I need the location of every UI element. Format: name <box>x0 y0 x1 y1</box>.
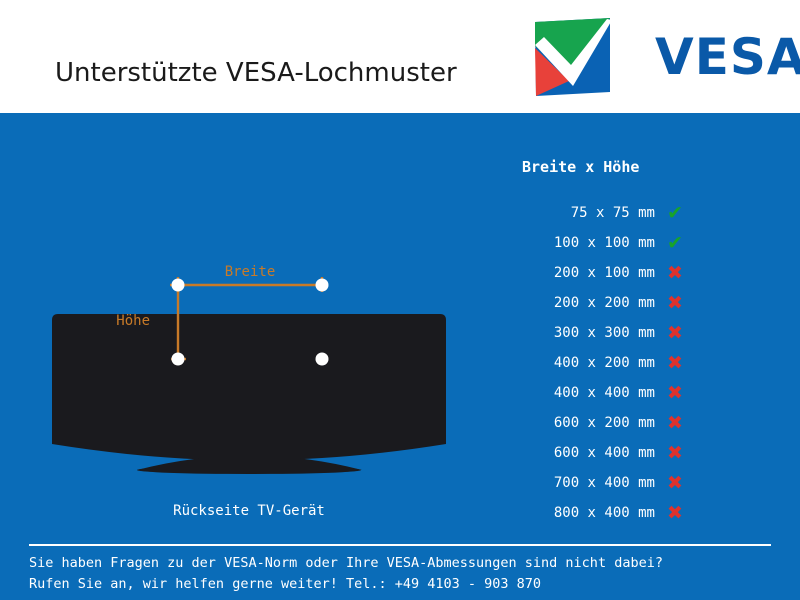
table-row: 200 x 100 mm✖ <box>470 258 800 288</box>
table-row: 600 x 200 mm✖ <box>470 408 800 438</box>
page-title: Unterstützte VESA-Lochmuster <box>55 58 457 88</box>
table-row: 100 x 100 mm✔ <box>470 228 800 258</box>
table-row: 75 x 75 mm✔ <box>470 198 800 228</box>
unsupported-cross-icon: ✖ <box>655 468 695 498</box>
unsupported-cross-icon: ✖ <box>655 318 695 348</box>
table-row: 400 x 400 mm✖ <box>470 378 800 408</box>
size-label: 600 x 400 mm <box>470 438 655 468</box>
table-row: 400 x 200 mm✖ <box>470 348 800 378</box>
size-label: 700 x 400 mm <box>470 468 655 498</box>
size-label: 600 x 200 mm <box>470 408 655 438</box>
footer-divider <box>29 544 771 546</box>
footer-line-1: Sie haben Fragen zu der VESA-Norm oder I… <box>29 553 789 574</box>
table-body: 75 x 75 mm✔100 x 100 mm✔200 x 100 mm✖200… <box>470 198 800 528</box>
size-label: 400 x 200 mm <box>470 348 655 378</box>
tv-illustration: Breite Höhe Rückseite TV-Gerät <box>0 113 470 543</box>
tv-back-diagram-icon: Breite Höhe Rückseite TV-Gerät <box>0 113 470 543</box>
unsupported-cross-icon: ✖ <box>655 438 695 468</box>
size-label: 100 x 100 mm <box>470 228 655 258</box>
vesa-wordmark: VESA <box>655 32 800 82</box>
unsupported-cross-icon: ✖ <box>655 378 695 408</box>
label-hoehe: Höhe <box>116 313 150 329</box>
vesa-logo-mark-icon <box>533 18 612 96</box>
size-label: 400 x 400 mm <box>470 378 655 408</box>
footer-contact: Sie haben Fragen zu der VESA-Norm oder I… <box>29 553 789 595</box>
footer-line-2: Rufen Sie an, wir helfen gerne weiter! T… <box>29 574 789 595</box>
size-label: 75 x 75 mm <box>470 198 655 228</box>
vesa-info-panel: Unterstützte VESA-Lochmuster VESA <box>0 0 800 600</box>
size-label: 200 x 100 mm <box>470 258 655 288</box>
table-row: 600 x 400 mm✖ <box>470 438 800 468</box>
page-header: Unterstützte VESA-Lochmuster VESA <box>0 0 800 113</box>
supported-check-icon: ✔ <box>655 228 695 258</box>
size-label: 300 x 300 mm <box>470 318 655 348</box>
unsupported-cross-icon: ✖ <box>655 348 695 378</box>
unsupported-cross-icon: ✖ <box>655 288 695 318</box>
unsupported-cross-icon: ✖ <box>655 408 695 438</box>
tv-caption: Rückseite TV-Gerät <box>173 503 325 519</box>
vesa-logo: VESA <box>533 18 785 98</box>
size-label: 200 x 200 mm <box>470 288 655 318</box>
table-column-header: Breite x Höhe <box>522 158 639 176</box>
table-row: 200 x 200 mm✖ <box>470 288 800 318</box>
unsupported-cross-icon: ✖ <box>655 258 695 288</box>
label-breite: Breite <box>225 264 276 280</box>
supported-check-icon: ✔ <box>655 198 695 228</box>
size-label: 800 x 400 mm <box>470 498 655 528</box>
unsupported-cross-icon: ✖ <box>655 498 695 528</box>
table-row: 700 x 400 mm✖ <box>470 468 800 498</box>
table-row: 300 x 300 mm✖ <box>470 318 800 348</box>
table-row: 800 x 400 mm✖ <box>470 498 800 528</box>
